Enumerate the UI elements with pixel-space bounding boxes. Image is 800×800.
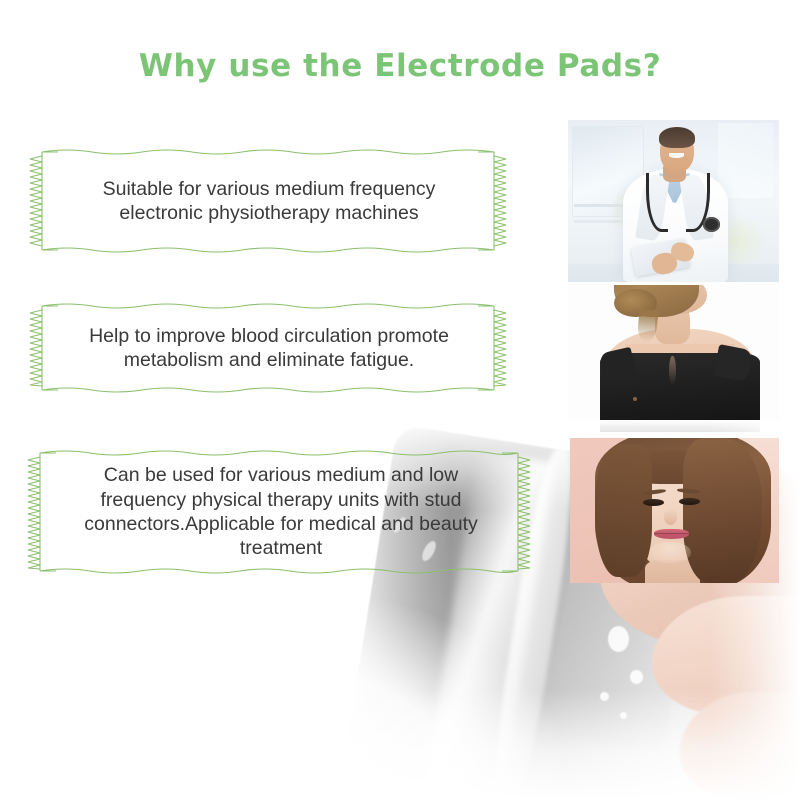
gel-bubble [608, 626, 629, 652]
benefit-card-2: Help to improve blood circulation promot… [18, 300, 518, 396]
doctor-hair [659, 127, 695, 148]
doctor-photo [568, 120, 779, 282]
woman-portrait-photo [570, 438, 779, 583]
benefit-card-3: Can be used for various medium and low f… [16, 447, 542, 577]
lip-line [654, 533, 690, 534]
nose [664, 509, 677, 525]
spine-shadow [669, 356, 675, 385]
chin-highlight [649, 542, 691, 562]
benefit-card-3-line-3: connectors.Applicable for medical and be… [84, 512, 478, 536]
benefit-card-1-text: Suitable for various medium frequency el… [60, 146, 478, 256]
window-panel-right [718, 123, 773, 198]
benefit-card-3-line-1: Can be used for various medium and low [84, 463, 478, 487]
benefit-card-2-line-2: metabolism and eliminate fatigue. [89, 348, 449, 372]
portrait-hair-front-left [595, 444, 651, 577]
portrait-hair-front-right [683, 438, 762, 583]
infographic-canvas: Why use the Electrode Pads? Suitable for… [0, 0, 800, 800]
benefit-card-3-text: Can be used for various medium and low f… [60, 447, 502, 577]
gel-bubble [630, 670, 643, 684]
benefit-card-3-line-2: frequency physical therapy units with st… [84, 488, 478, 512]
benefit-card-1: Suitable for various medium frequency el… [18, 146, 518, 256]
tank-strap-right [713, 344, 752, 382]
page-title: Why use the Electrode Pads? [0, 48, 800, 84]
benefit-card-1-line-1: Suitable for various medium frequency [103, 177, 436, 201]
benefit-card-3-line-4: treatment [84, 536, 478, 560]
woman-back-photo [568, 285, 779, 432]
benefit-card-1-line-2: electronic physiotherapy machines [103, 201, 436, 225]
benefit-card-2-text: Help to improve blood circulation promot… [60, 300, 478, 396]
stethoscope-chestpiece [703, 217, 720, 232]
benefit-card-2-line-1: Help to improve blood circulation promot… [89, 324, 449, 348]
